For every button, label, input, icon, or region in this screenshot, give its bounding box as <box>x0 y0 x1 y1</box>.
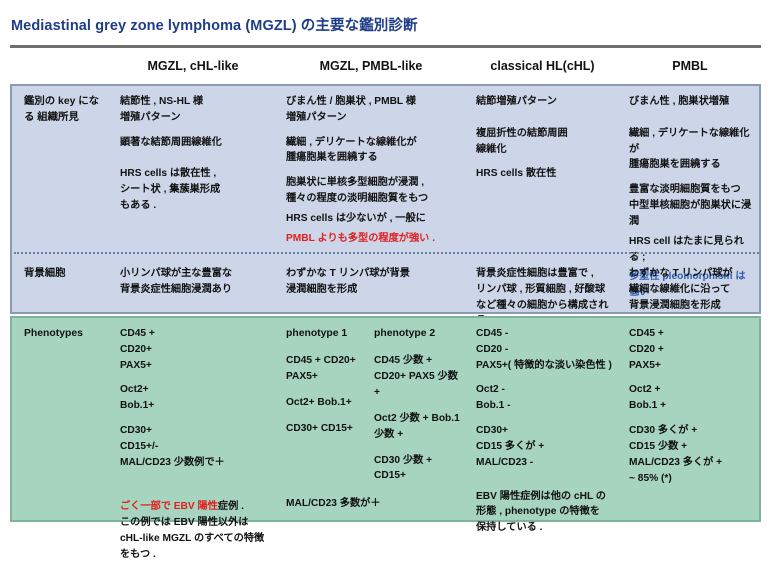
pheno-c3-note: EBV 陽性症例は他の cHL の 形態 , phenotype の特徴を 保持… <box>476 489 615 536</box>
bg-c1: 小リンパ球が主な豊富な 背景炎症性細胞浸潤あり <box>120 266 272 298</box>
pheno-c3-g2: Oct2 - Bob.1 - <box>476 382 615 414</box>
bg-c4: わずかな T リンパ球が 繊細な線維化に沿って 背景浸潤細胞を形成 <box>629 266 753 313</box>
morph-c3-p2: 複屈折性の結節周囲 線維化 <box>476 126 615 158</box>
pheno-c2-sub2-g3: CD30 少数 + CD15+ <box>374 453 462 485</box>
table-column-headers: MGZL, cHL-like MGZL, PMBL-like classical… <box>10 50 761 82</box>
cell-phenotypes-chl-like: CD45 + CD20+ PAX5+ Oct2+ Bob.1+ CD30+ CD… <box>112 318 278 584</box>
pheno-c3-list: CD45 - CD20 - PAX5+( 特徴的な淡い染色性 ) Oct2 - … <box>476 326 615 471</box>
pheno-c1-note-rest: この例では EBV 陽性以外は cHL-like MGZL のすべての特徴 をも… <box>120 515 272 562</box>
header-rule <box>10 45 761 48</box>
cell-phenotypes-pmbl-like: phenotype 1 CD45 + CD20+ PAX5+ Oct2+ Bob… <box>278 318 468 584</box>
morphology-block: 鑑別の key になる 組織所見 結節性 , NS-HL 様 増殖パターン 顕著… <box>10 84 761 314</box>
column-header-mgzl-pmbl-like: MGZL, PMBL-like <box>276 50 466 82</box>
pheno-c2-sub1-g3: CD30+ CD15+ <box>286 421 374 437</box>
pheno-c2-sub2-header: phenotype 2 <box>374 326 462 342</box>
column-header-rowlabel <box>10 50 110 82</box>
morph-c4-p2: 繊細 , デリケートな線維化が 腫瘍胞巣を囲繞する <box>629 126 753 173</box>
table-row-phenotypes: Phenotypes CD45 + CD20+ PAX5+ Oct2+ Bob.… <box>12 318 759 584</box>
pheno-c1-g3: CD30+ CD15+/- MAL/CD23 少数例で＋ <box>120 423 272 470</box>
morph-c4-p3: 豊富な淡明細胞質をもつ 中型単核細胞が胞巣状に浸潤 <box>629 182 753 229</box>
pheno-c4-g2: Oct2 + Bob.1 + <box>629 382 753 414</box>
phenotypes-block: Phenotypes CD45 + CD20+ PAX5+ Oct2+ Bob.… <box>10 316 761 522</box>
cell-phenotypes-pmbl: CD45 + CD20 + PAX5+ Oct2 + Bob.1 + CD30 … <box>621 318 759 584</box>
row-label-phenotypes: Phenotypes <box>12 318 112 584</box>
pheno-c3-g1: CD45 - CD20 - PAX5+( 特徴的な淡い染色性 ) <box>476 326 615 373</box>
pheno-c2-sub1-g2: Oct2+ Bob.1+ <box>286 395 374 411</box>
page-title: Mediastinal grey zone lymphoma (MGZL) の主… <box>11 14 418 35</box>
morph-c3-p1: 結節増殖パターン <box>476 94 615 110</box>
pheno-c4-list: CD45 + CD20 + PAX5+ Oct2 + Bob.1 + CD30 … <box>629 326 753 486</box>
morph-c1-p3: HRS cells は散在性 , シート状 , 集蔟巣形成 もある . <box>120 166 272 213</box>
morph-c2-p2: 繊細 , デリケートな線維化が 腫瘍胞巣を囲繞する <box>286 135 462 167</box>
pheno-c2-twin: phenotype 1 CD45 + CD20+ PAX5+ Oct2+ Bob… <box>286 326 462 494</box>
pheno-c1-g2: Oct2+ Bob.1+ <box>120 382 272 414</box>
pheno-c2-sub2-g2: Oct2 少数 + Bob.1 少数 + <box>374 411 462 443</box>
column-header-pmbl: PMBL <box>619 50 761 82</box>
pheno-c2-sub1-g1: CD45 + CD20+ PAX5+ <box>286 353 374 385</box>
pheno-c1-g1: CD45 + CD20+ PAX5+ <box>120 326 272 373</box>
pheno-c1-note-highlight: ごく一部で EBV 陽性 <box>120 501 218 512</box>
pheno-c2-sub1-header: phenotype 1 <box>286 326 374 342</box>
pheno-c2-mal-line: MAL/CD23 多数が＋ <box>286 496 462 512</box>
pheno-c4-g1: CD45 + CD20 + PAX5+ <box>629 326 753 373</box>
column-header-classical-hl: classical HL(cHL) <box>466 50 619 82</box>
pheno-c2-sub1: phenotype 1 CD45 + CD20+ PAX5+ Oct2+ Bob… <box>286 326 374 494</box>
morph-c2-p4: HRS cells は少ないが , 一般に <box>286 211 462 227</box>
morph-c2-p5-highlight: PMBL よりも多型の程度が強い . <box>286 231 462 247</box>
cell-phenotypes-classical-hl: CD45 - CD20 - PAX5+( 特徴的な淡い染色性 ) Oct2 - … <box>468 318 621 584</box>
morph-c2-p1: びまん性 / 胞巣状 , PMBL 様 増殖パターン <box>286 94 462 126</box>
pheno-c2-sub2-g1: CD45 少数 + CD20+ PAX5 少数 + <box>374 353 462 400</box>
bg-c2: わずかな T リンパ球が背景 浸潤細胞を形成 <box>286 266 462 298</box>
pheno-c4-g3: CD30 多くが + CD15 少数 + MAL/CD23 多くが + ~ 85… <box>629 423 753 486</box>
pheno-c1-note: ごく一部で EBV 陽性症例 . この例では EBV 陽性以外は cHL-lik… <box>120 484 272 579</box>
morph-c1-p1: 結節性 , NS-HL 様 増殖パターン <box>120 94 272 126</box>
column-header-mgzl-chl-like: MGZL, cHL-like <box>110 50 276 82</box>
morph-c1-p2: 顕著な結節周囲線維化 <box>120 135 272 151</box>
slide-root: Mediastinal grey zone lymphoma (MGZL) の主… <box>0 0 771 551</box>
morph-c4-p1: びまん性 , 胞巣状増殖 <box>629 94 753 110</box>
pheno-c3-g3: CD30+ CD15 多くが + MAL/CD23 - <box>476 423 615 470</box>
pheno-c1-note-tail: 症例 . <box>218 501 244 512</box>
pheno-c1-list: CD45 + CD20+ PAX5+ Oct2+ Bob.1+ CD30+ CD… <box>120 326 272 471</box>
row-divider-dotted <box>14 252 759 254</box>
morph-c3-p3: HRS cells 散在性 <box>476 166 615 182</box>
morph-c2-p3: 胞巣状に単核多型細胞が浸潤 , 種々の程度の淡明細胞質をもつ <box>286 175 462 207</box>
pheno-c2-sub2: phenotype 2 CD45 少数 + CD20+ PAX5 少数 + Oc… <box>374 326 462 494</box>
